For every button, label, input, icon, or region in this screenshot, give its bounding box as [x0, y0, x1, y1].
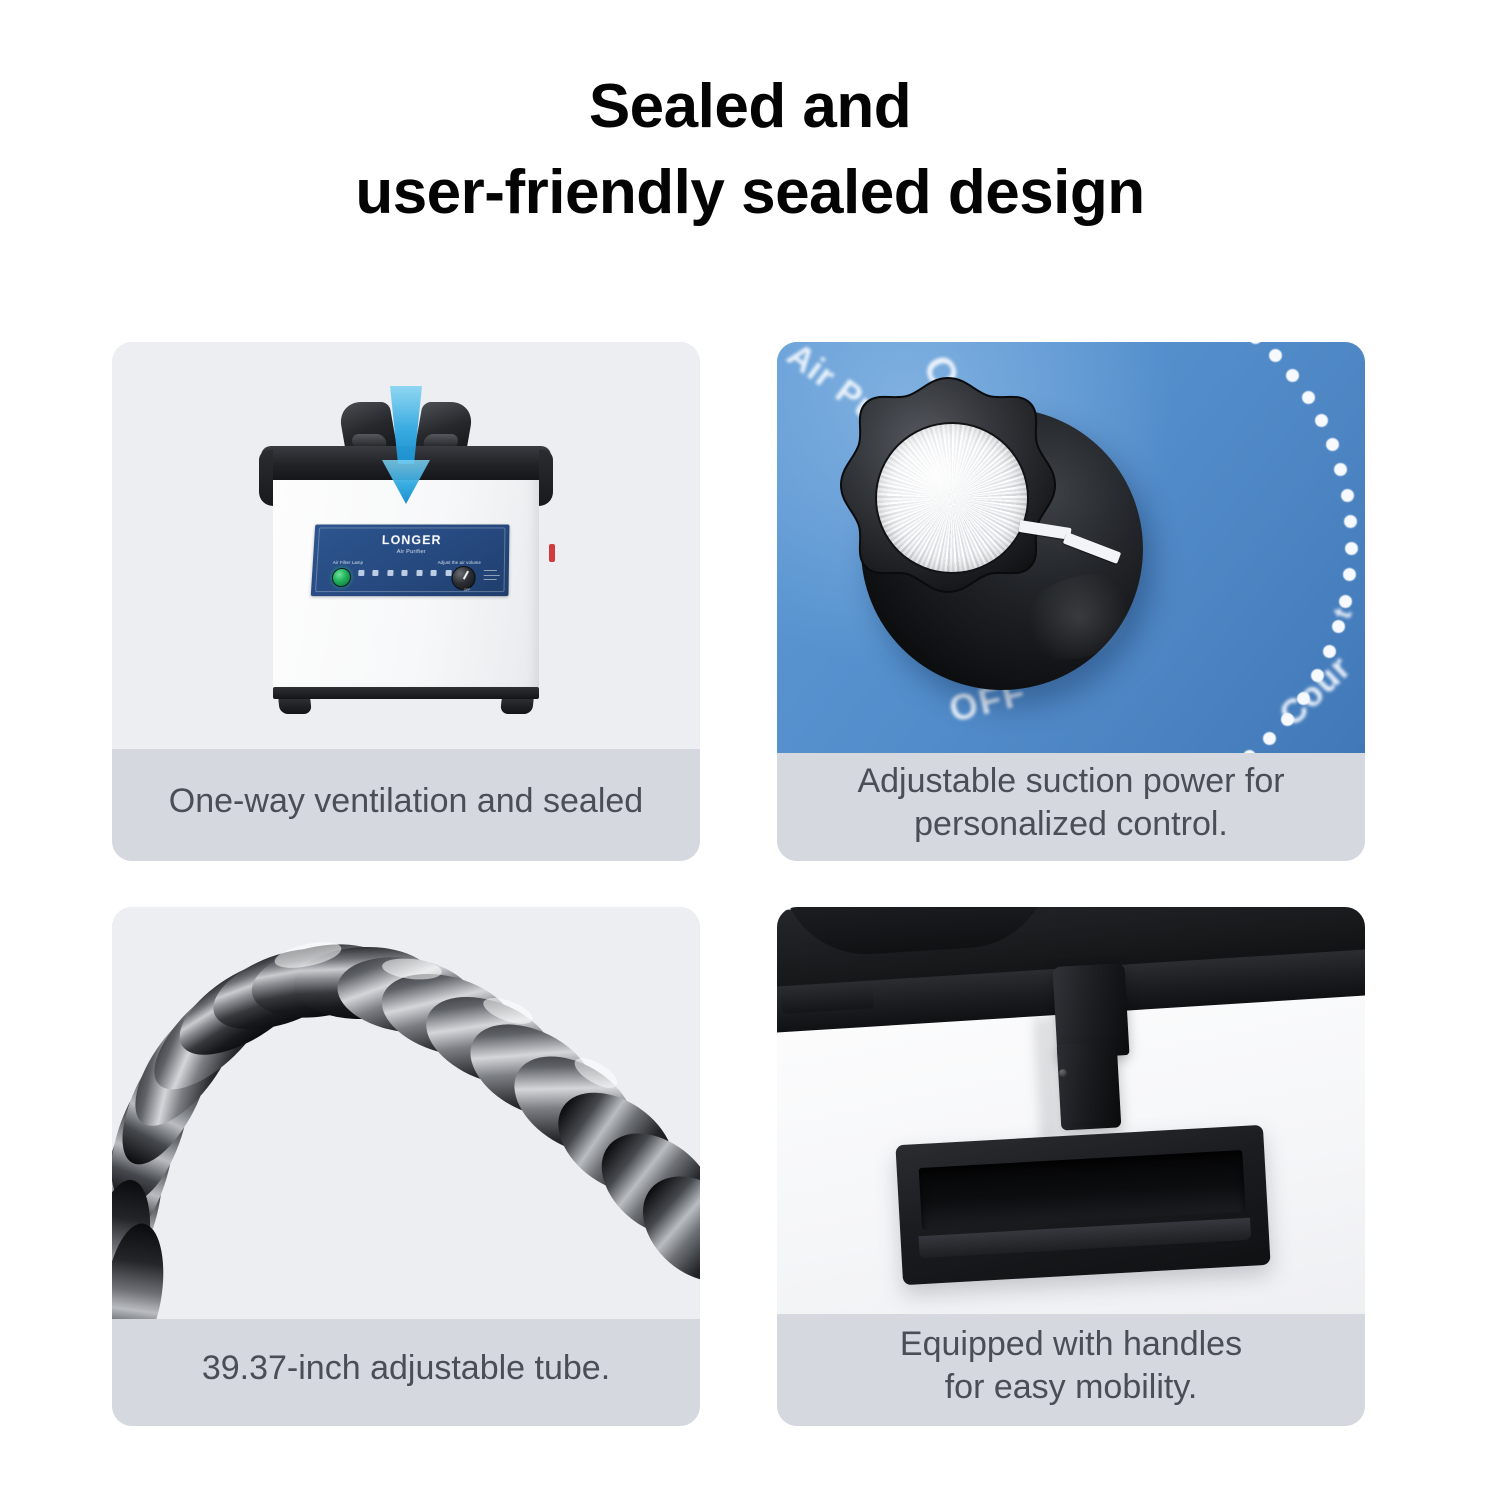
moisture-dust-icon [370, 570, 381, 577]
red-indicator-tab [549, 544, 555, 562]
corrugated-tube-icon [112, 907, 700, 1319]
rotary-knob[interactable] [823, 372, 1153, 702]
brand-subtitle: Air Purifier [313, 549, 509, 555]
moisture-odor-icon [399, 570, 410, 577]
page-title-line-1: Sealed and [0, 64, 1500, 150]
filter-status-icon-row [355, 570, 454, 586]
silicate-smoke-icon [355, 570, 366, 577]
silicon-carbon-icon [428, 570, 439, 577]
caption-line: personalized control. [914, 803, 1228, 846]
feature-card-adjustable-suction: Air Purification O OFF t Cour [777, 342, 1365, 861]
purifier-foot-left [278, 697, 312, 714]
airflow-arrow-icon [374, 386, 438, 506]
panel-label-right: Adjust the air volume [438, 560, 481, 565]
caption-line: for easy mobility. [945, 1366, 1198, 1409]
card-caption-suction: Adjustable suction power for personalize… [777, 753, 1365, 861]
recessed-handle[interactable] [895, 1125, 1270, 1285]
caption-line: Adjustable suction power for [857, 760, 1284, 803]
knob-closeup-scene: Air Purification O OFF t Cour [777, 342, 1365, 753]
brand-logo: LONGER [314, 533, 510, 547]
purifier-base [273, 687, 539, 699]
caption-line: One-way ventilation and sealed [169, 780, 643, 823]
feature-card-one-way-ventilation: LONGER Air Purifier Air Filter Lamp Adju… [112, 342, 700, 861]
silicate-pm25-icon [413, 570, 424, 577]
caption-line: Equipped with handles [900, 1323, 1242, 1366]
caption-line: 39.37-inch adjustable tube. [202, 1347, 610, 1390]
page-title-line-2: user-friendly sealed design [0, 150, 1500, 236]
card-media-ventilation: LONGER Air Purifier Air Filter Lamp Adju… [112, 342, 700, 749]
knob-off-label: OFF [464, 588, 471, 592]
feature-card-handles: Equipped with handles for easy mobility. [777, 907, 1365, 1426]
page-title: Sealed and user-friendly sealed design [0, 64, 1500, 235]
control-panel[interactable]: LONGER Air Purifier Air Filter Lamp Adju… [311, 525, 510, 597]
card-media-tube [112, 907, 700, 1319]
handle-cavity [919, 1150, 1246, 1230]
card-caption-handles: Equipped with handles for easy mobility. [777, 1314, 1365, 1426]
latch-lower-catch[interactable] [1057, 1041, 1122, 1130]
silicone-bacteria-icon [384, 570, 395, 577]
purifier-foot-right [500, 697, 534, 714]
card-caption-ventilation: One-way ventilation and sealed [112, 749, 700, 861]
panel-label-left: Air Filter Lamp [333, 560, 364, 565]
feature-card-grid: LONGER Air Purifier Air Filter Lamp Adju… [112, 342, 1365, 1426]
knob-tick-marks [484, 570, 500, 584]
latch-pivot-pin [1059, 1069, 1067, 1077]
knob-metal-cap [875, 422, 1029, 574]
air-purifier-illustration: LONGER Air Purifier Air Filter Lamp Adju… [261, 394, 551, 724]
card-caption-tube: 39.37-inch adjustable tube. [112, 1319, 700, 1426]
tube-closeup-scene [112, 907, 700, 1319]
feature-infographic-page: Sealed and user-friendly sealed design [0, 0, 1500, 1500]
card-media-handle [777, 907, 1365, 1314]
handle-closeup-scene [777, 907, 1365, 1314]
feature-card-adjustable-tube: 39.37-inch adjustable tube. [112, 907, 700, 1426]
card-media-knob: Air Purification O OFF t Cour [777, 342, 1365, 753]
